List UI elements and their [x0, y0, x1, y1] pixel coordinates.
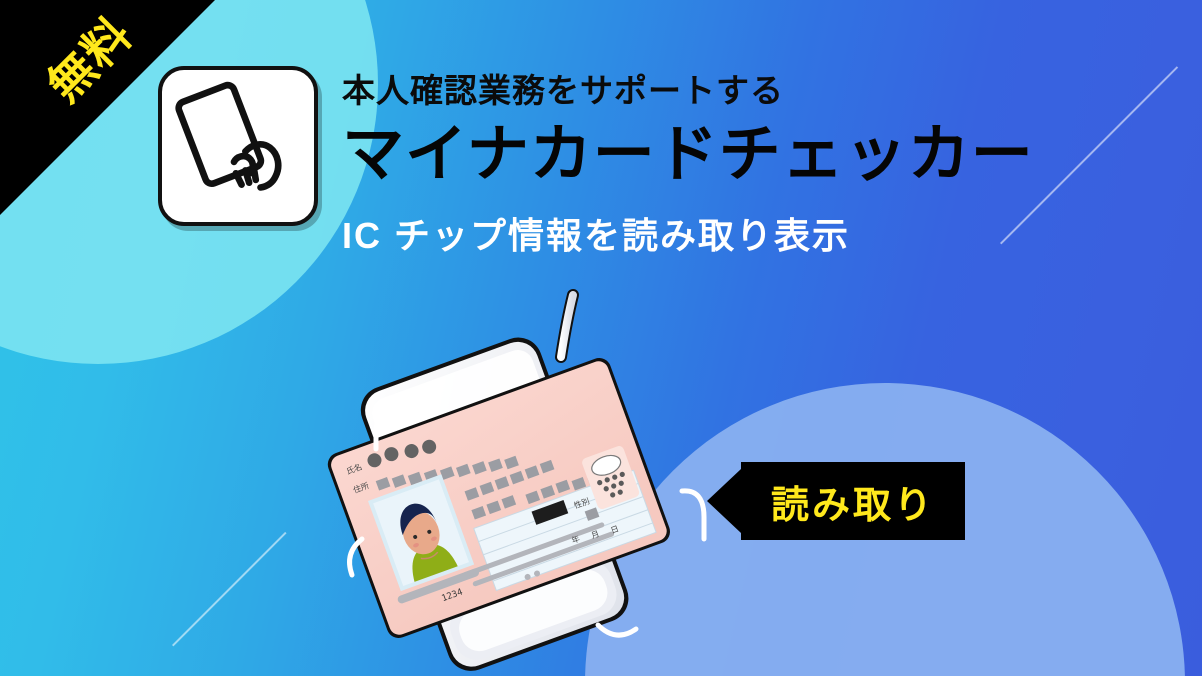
page-title: マイナカードチェッカー	[342, 120, 1034, 189]
lead-text: 本人確認業務をサポートする	[342, 72, 1034, 110]
hand-holding-card-icon	[158, 66, 318, 226]
callout-arrow-icon	[707, 469, 741, 533]
promo-banner: 無料 本人確認業務をサポートする マイナカードチェッカー IC チップ情報を読み…	[0, 0, 1202, 676]
header-text-block: 本人確認業務をサポートする マイナカードチェッカー IC チップ情報を読み取り表…	[342, 66, 1034, 259]
subtitle-text: IC チップ情報を読み取り表示	[342, 207, 1034, 259]
decorative-diagonal-line-bottom-left	[172, 532, 287, 647]
callout-label: 読み取り	[741, 462, 965, 540]
card-reader-illustration: 氏名 住所	[330, 295, 750, 675]
banner-header: 本人確認業務をサポートする マイナカードチェッカー IC チップ情報を読み取り表…	[158, 66, 1034, 259]
read-callout: 読み取り	[707, 462, 965, 540]
reader-cable	[561, 295, 573, 357]
